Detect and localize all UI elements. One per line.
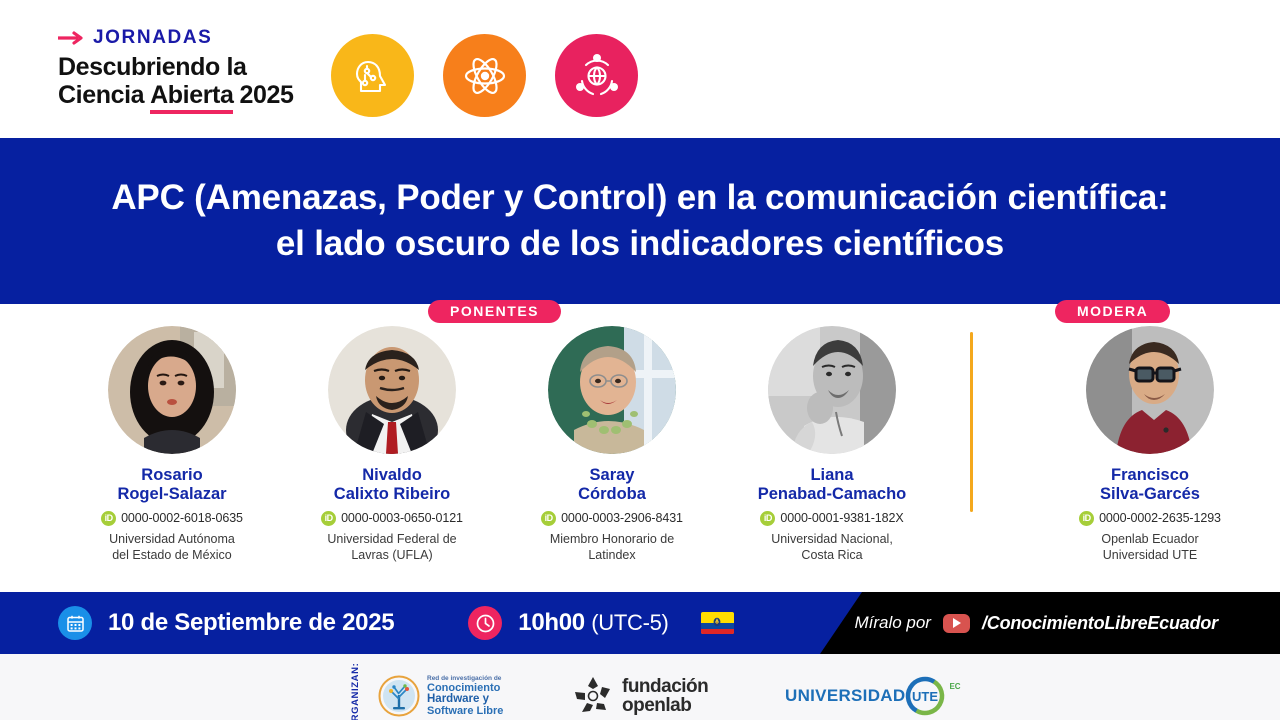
moderator-name: Francisco Silva-Garcés <box>1040 466 1260 505</box>
openlab-logo-mark <box>572 675 614 717</box>
red-logo-mark <box>378 675 420 717</box>
orcid-row[interactable]: iD 0000-0003-0650-0121 <box>282 511 502 526</box>
orcid-id: 0000-0002-6018-0635 <box>121 511 243 525</box>
openlab-logo-text: fundación openlab <box>622 677 708 715</box>
portrait-saray <box>548 326 676 454</box>
speaker-name: Rosario Rogel-Salazar <box>62 466 282 505</box>
fundacion-openlab-logo: fundación openlab <box>572 675 708 717</box>
orcid-row[interactable]: iD 0000-0002-6018-0635 <box>62 511 282 526</box>
avatar <box>548 326 676 454</box>
ute-ec-suffix: EC <box>949 682 960 691</box>
red-conocimiento-hardware-software-libre-logo: Red de investigación de Conocimiento Har… <box>378 675 503 717</box>
speaker-affiliation: Universidad Autónoma del Estado de Méxic… <box>62 531 282 563</box>
ute-ring-mark: UTE <box>903 674 947 718</box>
badge-modera: MODERA <box>1055 300 1170 323</box>
speaker-card: Nivaldo Calixto Ribeiro iD 0000-0003-065… <box>282 326 502 563</box>
calendar-icon <box>58 606 92 640</box>
orcid-icon: iD <box>1079 511 1094 526</box>
event-brand: JORNADAS Descubriendo la Ciencia Abierta… <box>58 27 294 111</box>
speakers-section: Rosario Rogel-Salazar iD 0000-0002-6018-… <box>0 304 1280 592</box>
event-date: 10 de Septiembre de 2025 <box>108 609 394 637</box>
speaker-affiliation: Universidad Nacional, Costa Rica <box>722 531 942 563</box>
brand-ciencia-word: Ciencia <box>58 81 144 109</box>
portrait-francisco <box>1086 326 1214 454</box>
event-info-bar: 10 de Septiembre de 2025 10h00 (UTC-5) M… <box>0 592 1280 654</box>
speakers-list: Rosario Rogel-Salazar iD 0000-0002-6018-… <box>62 326 942 563</box>
event-timezone: (UTC-5) <box>591 610 668 635</box>
orcid-row[interactable]: iD 0000-0001-9381-182X <box>722 511 942 526</box>
organizan-label: ORGANIZAN: <box>350 663 361 720</box>
avatar <box>1086 326 1214 454</box>
clock-icon <box>468 606 502 640</box>
speaker-name: Nivaldo Calixto Ribeiro <box>282 466 502 505</box>
orcid-row[interactable]: iD 0000-0002-2635-1293 <box>1040 511 1260 526</box>
speaker-affiliation: Universidad Federal de Lavras (UFLA) <box>282 531 502 563</box>
red-logo-text: Red de investigación de Conocimiento Har… <box>427 676 503 717</box>
moderator-list: Francisco Silva-Garcés iD 0000-0002-2635… <box>1040 326 1260 563</box>
universidad-ute-logo: UNIVERSIDAD UTE EC <box>785 674 961 718</box>
vertical-divider <box>970 332 973 512</box>
speaker-affiliation: Miembro Honorario de Latindex <box>502 531 722 563</box>
ai-head-icon <box>331 34 414 117</box>
speaker-card: Saray Córdoba iD 0000-0003-2906-8431 Mie… <box>502 326 722 563</box>
portrait-rosario <box>108 326 236 454</box>
page-footer: ORGANIZAN: Red de investigación de Conoc… <box>0 654 1280 720</box>
speaker-card: Liana Penabad-Camacho iD 0000-0001-9381-… <box>722 326 942 563</box>
avatar <box>108 326 236 454</box>
portrait-liana <box>768 326 896 454</box>
moderator-card: Francisco Silva-Garcés iD 0000-0002-2635… <box>1040 326 1260 563</box>
global-collaboration-icon <box>555 34 638 117</box>
avatar <box>768 326 896 454</box>
portrait-nivaldo <box>328 326 456 454</box>
brand-year: 2025 <box>239 81 293 109</box>
header-icon-group <box>331 34 638 117</box>
brand-jornadas-label: JORNADAS <box>93 27 212 49</box>
badge-ponentes: PONENTES <box>428 300 561 323</box>
speaker-name: Liana Penabad-Camacho <box>722 466 942 505</box>
orcid-icon: iD <box>541 511 556 526</box>
title-banner: APC (Amenazas, Poder y Control) en la co… <box>0 138 1280 304</box>
play-triangle <box>953 618 961 628</box>
flag-crest <box>713 617 722 629</box>
flag-band-red <box>701 629 734 635</box>
youtube-channel-handle[interactable]: /ConocimientoLibreEcuador <box>982 613 1218 634</box>
speaker-name: Saray Córdoba <box>502 466 722 505</box>
ute-universidad-word: UNIVERSIDAD <box>785 686 905 706</box>
brand-abierta-word: Abierta <box>150 81 233 111</box>
orcid-icon: iD <box>321 511 336 526</box>
orcid-row[interactable]: iD 0000-0003-2906-8431 <box>502 511 722 526</box>
svg-text:UTE: UTE <box>912 689 938 704</box>
orcid-id: 0000-0002-2635-1293 <box>1099 511 1221 525</box>
section-badges: PONENTES MODERA <box>0 300 1280 324</box>
page-header: JORNADAS Descubriendo la Ciencia Abierta… <box>0 0 1280 138</box>
arrow-right-icon <box>58 31 84 45</box>
avatar <box>328 326 456 454</box>
page-title: APC (Amenazas, Poder y Control) en la co… <box>95 175 1185 267</box>
watch-strip[interactable]: Míralo por /ConocimientoLibreEcuador <box>820 592 1280 654</box>
brand-top-line: JORNADAS <box>58 27 294 49</box>
info-left-group: 10 de Septiembre de 2025 10h00 (UTC-5) <box>58 606 734 640</box>
brand-line-2: Ciencia Abierta 2025 <box>58 81 294 111</box>
speaker-card: Rosario Rogel-Salazar iD 0000-0002-6018-… <box>62 326 282 563</box>
orcid-id: 0000-0003-0650-0121 <box>341 511 463 525</box>
moderator-affiliation: Openlab Ecuador Universidad UTE <box>1040 531 1260 563</box>
ecuador-flag-icon <box>701 612 734 634</box>
watch-label: Míralo por <box>854 613 931 633</box>
atom-icon <box>443 34 526 117</box>
orcid-id: 0000-0001-9381-182X <box>780 511 903 525</box>
brand-line-1: Descubriendo la <box>58 53 294 81</box>
orcid-icon: iD <box>760 511 775 526</box>
orcid-id: 0000-0003-2906-8431 <box>561 511 683 525</box>
orcid-icon: iD <box>101 511 116 526</box>
youtube-icon[interactable] <box>943 614 970 633</box>
event-time: 10h00 (UTC-5) <box>518 609 668 637</box>
